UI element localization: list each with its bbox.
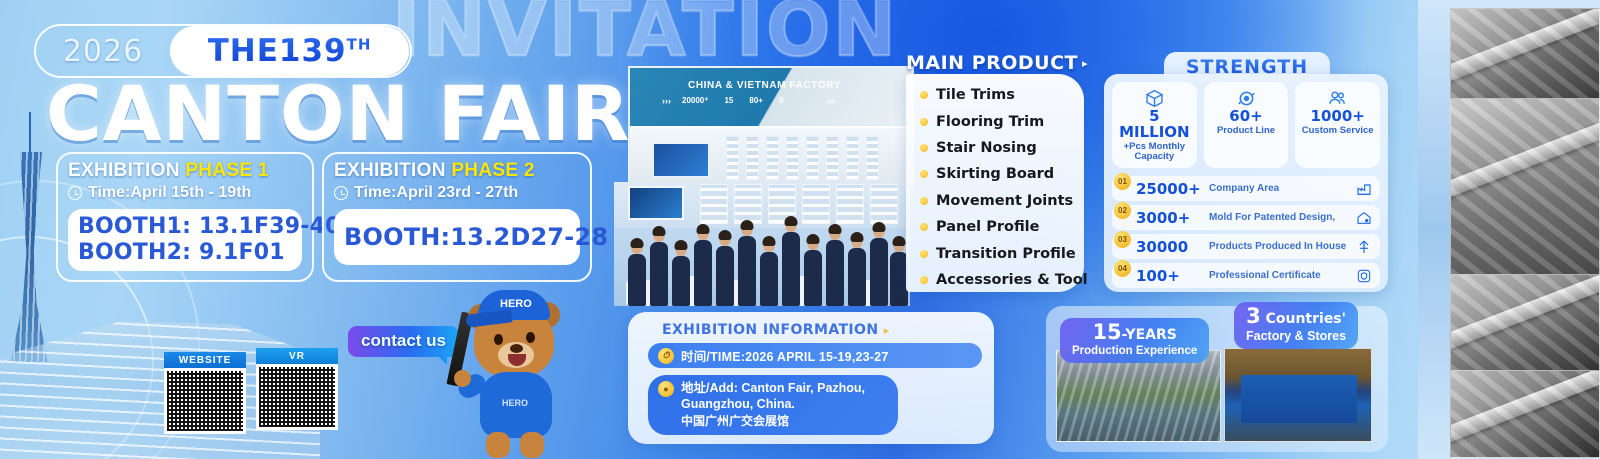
booth-stat-2: 80+ (749, 96, 763, 105)
qr-vr-code[interactable] (256, 364, 338, 430)
strength-card-label: Custom Service (1297, 126, 1378, 136)
product-item-label: Accessories & Tool (936, 272, 1088, 288)
bullet-dot-icon (920, 197, 928, 205)
strength-card: 60+ Product Line (1204, 82, 1289, 168)
invitation-background-text: INVITATION (392, 0, 898, 73)
phase-2-heading: EXHIBITION PHASE 2 (334, 160, 580, 182)
strength-stat-row: 04 100+ Professional Certificate (1112, 263, 1380, 288)
poster-canvas: INVITATION 2026 THE139TH CANTON FAIR EXH… (0, 0, 1600, 459)
bullet-dot-icon (920, 118, 928, 126)
chevron-right-icon: ››› (826, 96, 835, 106)
clock-icon: ⏱ (658, 348, 674, 364)
product-icon (1356, 239, 1372, 255)
product-photo (1450, 98, 1600, 276)
stat-label: Professional Certificate (1209, 270, 1349, 281)
stat-value: 3000+ (1136, 209, 1202, 227)
exhibition-address-row: ● 地址/Add: Canton Fair, Pazhou, Guangzhou… (648, 375, 898, 435)
product-item-label: Transition Profile (936, 246, 1076, 262)
product-item-label: Skirting Board (936, 166, 1054, 182)
strength-card-value: 1000+ (1297, 109, 1378, 125)
chevron-right-icon: ▸ (884, 324, 890, 337)
countries-badge-number: 3 Countries' (1246, 306, 1346, 327)
strength-stat-row: 01 25000+ Company Area (1112, 176, 1380, 201)
product-photo (1450, 8, 1600, 100)
exhibition-information-panel: EXHIBITION INFORMATION ▸ ⏱ 时间/TIME:2026 … (628, 312, 994, 444)
stat-index-badge: 01 (1114, 173, 1131, 190)
years-badge-suffix: -YEARS (1122, 327, 1177, 343)
booth-photo-stats: 20000⁺ 15 80+ 5 (682, 96, 783, 109)
strength-card-label: Product Line (1206, 126, 1287, 136)
phase-2-highlight: PHASE 2 (451, 160, 534, 181)
phase-1-time: Time:April 15th - 19th (88, 184, 251, 202)
strength-card-label: +Pcs Monthly Capacity (1114, 142, 1195, 163)
strength-card-value: 60+ (1206, 109, 1287, 125)
phase-1-heading: EXHIBITION PHASE 1 (68, 160, 302, 182)
product-item-label: Stair Nosing (936, 140, 1037, 156)
clock-icon (334, 186, 348, 200)
cube-icon (1114, 87, 1195, 109)
exhibition-address-cn: 中国广州广交会展馆 (681, 414, 888, 429)
bullet-dot-icon (920, 91, 928, 99)
hero-bear-mascot (452, 290, 570, 459)
contact-us-bubble[interactable]: contact us (348, 326, 459, 357)
product-item[interactable]: Movement Joints (920, 188, 1076, 214)
product-item-label: Movement Joints (936, 193, 1073, 209)
bullet-dot-icon (920, 144, 928, 152)
exhibition-stand-photo (1224, 348, 1372, 442)
product-item[interactable]: Tile Trims (920, 82, 1076, 108)
stat-value: 30000 (1136, 238, 1202, 256)
exhibition-time-text: 时间/TIME:2026 APRIL 15-19,23-27 (681, 346, 888, 365)
strength-stat-row: 03 30000 Products Produced In House (1112, 234, 1380, 259)
product-item[interactable]: Flooring Trim (920, 108, 1076, 134)
strength-stat-list: 01 25000+ Company Area 02 3000+ Mold For… (1112, 176, 1380, 288)
exhibition-information-title-text: EXHIBITION INFORMATION (662, 322, 878, 338)
product-item[interactable]: Skirting Board (920, 161, 1076, 187)
strength-stat-row: 02 3000+ Mold For Patented Design, (1112, 205, 1380, 230)
edition-ordinal: TH (347, 36, 372, 54)
team-photo (614, 182, 910, 306)
users-icon (1297, 87, 1378, 109)
edition-label: THE139TH (208, 33, 372, 69)
phase-1-time-row: Time:April 15th - 19th (68, 184, 302, 202)
bullet-dot-icon (920, 223, 928, 231)
product-item-label: Tile Trims (936, 87, 1015, 103)
year-label: 2026 (36, 34, 170, 69)
exhibition-information-title: EXHIBITION INFORMATION ▸ (662, 322, 982, 338)
factory-icon (1356, 181, 1372, 197)
stat-index-badge: 04 (1114, 260, 1131, 277)
phase-2-prefix: EXHIBITION (334, 160, 446, 181)
phase-1-booth-1: BOOTH1: 13.1F39-40 (78, 214, 292, 240)
main-product-list: Tile Trims Flooring Trim Stair Nosing Sk… (906, 74, 1084, 292)
countries-badge-sub: Factory & Stores (1246, 329, 1346, 343)
qr-vr-caption: VR (256, 348, 338, 364)
phase-1-highlight: PHASE 1 (185, 160, 268, 181)
countries-badge-value: 3 (1246, 304, 1261, 328)
years-badge-sub: Production Experience (1072, 345, 1197, 357)
stat-label: Company Area (1209, 183, 1349, 194)
product-item[interactable]: Transition Profile (920, 240, 1076, 266)
bullet-dot-icon (920, 276, 928, 284)
main-product-title: MAIN PRODUCT▸ (906, 52, 1088, 74)
exhibition-address-block: 地址/Add: Canton Fair, Pazhou, Guangzhou, … (681, 381, 888, 429)
exhibition-address-text: 地址/Add: Canton Fair, Pazhou, Guangzhou, … (681, 381, 865, 411)
strength-card-value: 5 MILLION (1114, 109, 1195, 141)
stat-label: Mold For Patented Design, (1209, 212, 1349, 223)
stat-value: 100+ (1136, 267, 1202, 285)
booth-stat-3: 5 (779, 96, 783, 105)
product-item-label: Panel Profile (936, 219, 1040, 235)
phase-2-booths: BOOTH:13.2D27-28 (334, 209, 580, 265)
product-photo-strip (1418, 0, 1600, 459)
qr-vr[interactable]: VR (256, 348, 338, 430)
factory-booth-photo: CHINA & VIETNAM FACTORY ››› ››› 20000⁺ 1… (628, 66, 914, 188)
edition-number: THE139 (208, 33, 347, 69)
phase-1-card: EXHIBITION PHASE 1 Time:April 15th - 19t… (56, 152, 314, 282)
phase-2-time-row: Time:April 23rd - 27th (334, 184, 580, 202)
cycle-icon (1206, 87, 1287, 109)
chevron-right-icon: ▸ (1082, 57, 1088, 70)
strength-panel: 5 MILLION +Pcs Monthly Capacity 60+ Prod… (1104, 74, 1388, 292)
clock-icon (68, 186, 82, 200)
product-item[interactable]: Accessories & Tool (920, 267, 1076, 293)
product-item[interactable]: Panel Profile (920, 214, 1076, 240)
strength-card: 1000+ Custom Service (1295, 82, 1380, 168)
booth-stat-1: 15 (724, 96, 733, 105)
bullet-dot-icon (920, 250, 928, 258)
countries-badge: 3 Countries' Factory & Stores (1234, 302, 1358, 349)
factory-production-photo (1056, 350, 1221, 442)
phase-2-time: Time:April 23rd - 27th (354, 184, 518, 202)
phase-2-card: EXHIBITION PHASE 2 Time:April 23rd - 27t… (322, 152, 592, 282)
booth-photo-headline: CHINA & VIETNAM FACTORY (688, 80, 841, 91)
strength-card-row: 5 MILLION +Pcs Monthly Capacity 60+ Prod… (1112, 82, 1380, 168)
stat-label: Products Produced In House (1209, 241, 1349, 252)
product-photo (1450, 370, 1600, 458)
main-product-title-text: MAIN PRODUCT (906, 52, 1078, 74)
qr-website-code[interactable] (164, 368, 246, 434)
stat-index-badge: 03 (1114, 231, 1131, 248)
phase-1-booth-2: BOOTH2: 9.1F01 (78, 240, 292, 266)
bullet-dot-icon (920, 170, 928, 178)
page-title: CANTON FAIR (46, 78, 631, 150)
product-item[interactable]: Stair Nosing (920, 135, 1076, 161)
mold-house-icon (1356, 210, 1372, 226)
phase-1-prefix: EXHIBITION (68, 160, 180, 181)
qr-website[interactable]: WEBSITE (164, 352, 246, 434)
years-badge-number: 15-YEARS (1072, 322, 1197, 343)
certificate-shield-icon (1356, 268, 1372, 284)
strength-card: 5 MILLION +Pcs Monthly Capacity (1112, 82, 1197, 168)
years-experience-badge: 15-YEARS Production Experience (1060, 318, 1209, 363)
qr-website-caption: WEBSITE (164, 352, 246, 368)
stat-value: 25000+ (1136, 180, 1202, 198)
exhibition-time-row: ⏱ 时间/TIME:2026 APRIL 15-19,23-27 (648, 343, 982, 368)
booth-stat-0: 20000⁺ (682, 96, 708, 105)
countries-badge-suffix: Countries' (1261, 311, 1346, 327)
years-badge-value: 15 (1092, 320, 1121, 344)
stat-index-badge: 02 (1114, 202, 1131, 219)
phase-2-booth-1: BOOTH:13.2D27-28 (344, 223, 570, 251)
product-item-label: Flooring Trim (936, 114, 1044, 130)
location-pin-icon: ● (658, 381, 674, 397)
chevron-right-icon: ››› (662, 96, 671, 106)
phase-1-booths: BOOTH1: 13.1F39-40 BOOTH2: 9.1F01 (68, 209, 302, 271)
product-photo (1450, 274, 1600, 372)
